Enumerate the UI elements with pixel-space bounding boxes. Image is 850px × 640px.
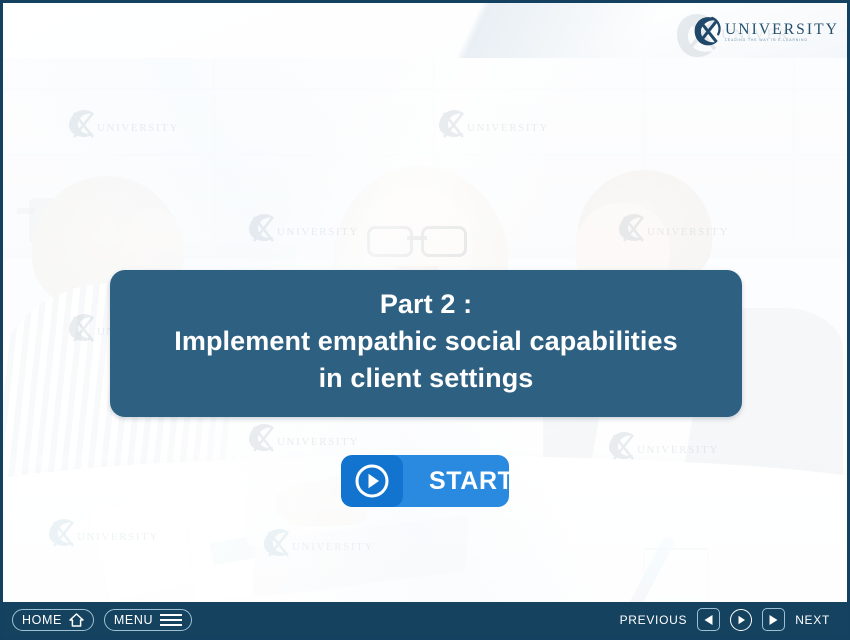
svg-text:UNIVERSITY: UNIVERSITY — [277, 226, 359, 238]
home-button-label: HOME — [22, 613, 62, 627]
previous-triangle-icon — [703, 614, 714, 626]
watermark-logo-icon: UNIVERSITY — [243, 208, 363, 252]
title-line-2: Implement empathic social capabilities — [130, 323, 722, 360]
previous-button[interactable] — [697, 608, 720, 631]
hamburger-icon — [160, 613, 182, 627]
watermark-logo-icon: UNIVERSITY — [433, 104, 553, 148]
start-button-label: START — [429, 467, 537, 496]
previous-label[interactable]: PREVIOUS — [620, 613, 688, 627]
watermark-logo-icon: UNIVERSITY — [63, 104, 183, 148]
course-slide: UNIVERSITY UNIVERSITY LEADING THE WAY IN… — [0, 0, 850, 640]
brand-tagline: LEADING THE WAY IN E-LEARNING — [725, 39, 839, 43]
next-triangle-icon — [768, 614, 779, 626]
home-icon — [69, 613, 84, 627]
watermark-logo-icon: UNIVERSITY — [613, 208, 733, 252]
svg-text:UNIVERSITY: UNIVERSITY — [292, 541, 374, 553]
menu-button[interactable]: MENU — [104, 609, 192, 631]
svg-text:UNIVERSITY: UNIVERSITY — [77, 531, 159, 543]
play-circle-icon — [737, 615, 746, 625]
play-icon — [353, 462, 391, 500]
svg-text:UNIVERSITY: UNIVERSITY — [467, 122, 549, 134]
brand-name: UNIVERSITY — [725, 22, 839, 38]
watermark-logo-icon: UNIVERSITY — [258, 523, 378, 567]
svg-text:UNIVERSITY: UNIVERSITY — [637, 444, 719, 456]
next-label[interactable]: NEXT — [795, 613, 830, 627]
menu-button-label: MENU — [114, 613, 153, 627]
brand-logo: UNIVERSITY LEADING THE WAY IN E-LEARNING — [688, 11, 839, 51]
x-lens-logo-icon — [688, 12, 726, 50]
playback-controls: PREVIOUS NEXT — [620, 608, 830, 631]
player-toolbar: HOME MENU PREVIOUS — [3, 602, 847, 637]
start-button[interactable]: START — [341, 455, 537, 507]
home-button[interactable]: HOME — [12, 609, 94, 631]
title-line-1: Part 2 : — [130, 286, 722, 323]
slide-header: UNIVERSITY UNIVERSITY LEADING THE WAY IN… — [3, 3, 847, 58]
slide-title-banner: Part 2 : Implement empathic social capab… — [110, 270, 742, 417]
next-button[interactable] — [762, 608, 785, 631]
watermark-logo-icon: UNIVERSITY — [603, 426, 723, 470]
start-play-icon — [341, 455, 403, 507]
svg-text:UNIVERSITY: UNIVERSITY — [647, 226, 729, 238]
play-button[interactable] — [730, 609, 752, 631]
watermark-logo-icon: UNIVERSITY — [43, 513, 163, 557]
svg-text:UNIVERSITY: UNIVERSITY — [97, 122, 179, 134]
svg-text:UNIVERSITY: UNIVERSITY — [277, 436, 359, 448]
title-line-3: in client settings — [130, 360, 722, 397]
